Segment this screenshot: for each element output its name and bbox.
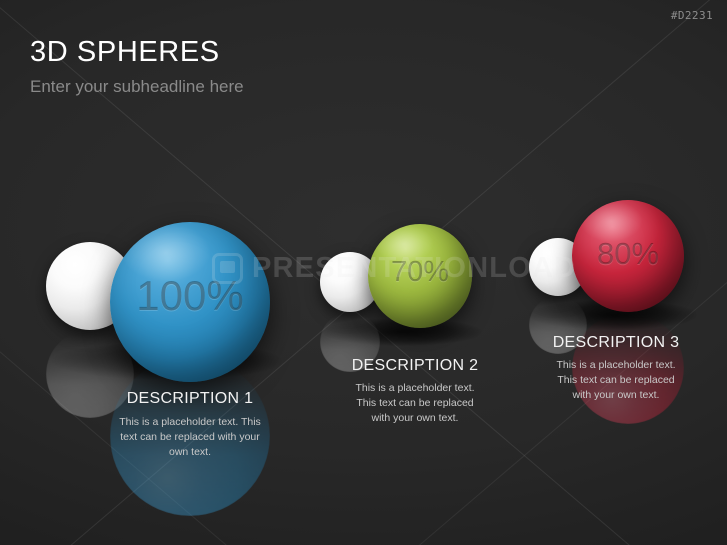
sphere-group-3[interactable]: 80% DESCRIPTION 3 This is a placeholder … xyxy=(0,0,727,545)
slide-canvas: #D2231 3D SPHERES Enter your subheadline… xyxy=(0,0,727,545)
color-sphere-3: 80% xyxy=(572,200,684,312)
caption-title-3: DESCRIPTION 3 xyxy=(521,334,711,352)
sphere-gloss xyxy=(572,200,684,312)
caption-body-3: This is a placeholder text. This text ca… xyxy=(536,358,696,403)
